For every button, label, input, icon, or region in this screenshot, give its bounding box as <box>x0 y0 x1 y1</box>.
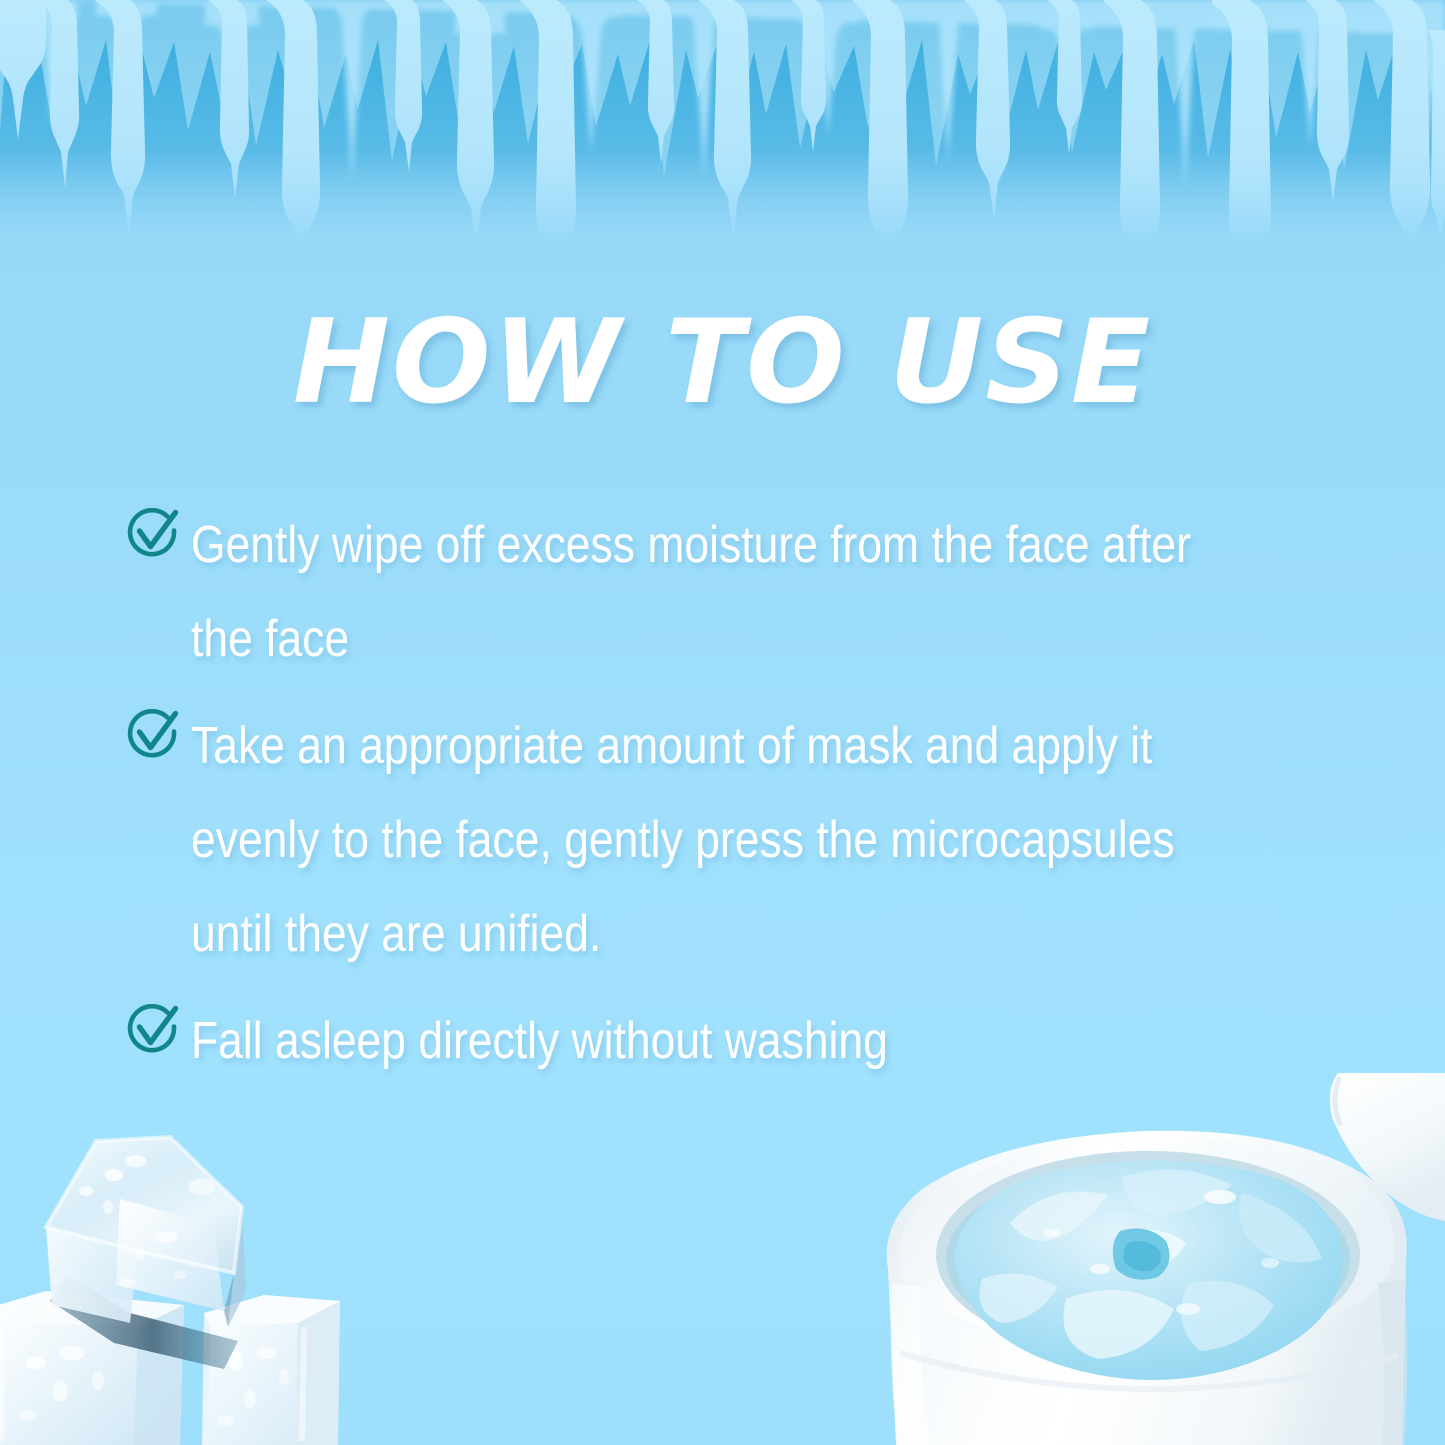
list-item: Take an appropriate amount of mask and a… <box>122 699 1422 981</box>
instruction-list: Gently wipe off excess moisture from the… <box>122 498 1422 1101</box>
check-circle-icon <box>122 704 182 764</box>
icicle-border <box>0 0 1445 240</box>
check-circle-icon <box>122 999 182 1059</box>
list-item-label: Gently wipe off excess moisture from the… <box>191 498 1244 686</box>
page-title: HOW TO USE <box>0 300 1445 425</box>
list-item: Gently wipe off excess moisture from the… <box>122 498 1422 686</box>
check-circle-icon <box>122 503 182 563</box>
cream-jar-photo <box>870 1073 1445 1445</box>
ice-cubes-photo <box>0 1115 408 1445</box>
list-item-label: Take an appropriate amount of mask and a… <box>191 699 1244 981</box>
how-to-use-infographic: HOW TO USE Gently wipe off excess moistu… <box>0 0 1445 1445</box>
